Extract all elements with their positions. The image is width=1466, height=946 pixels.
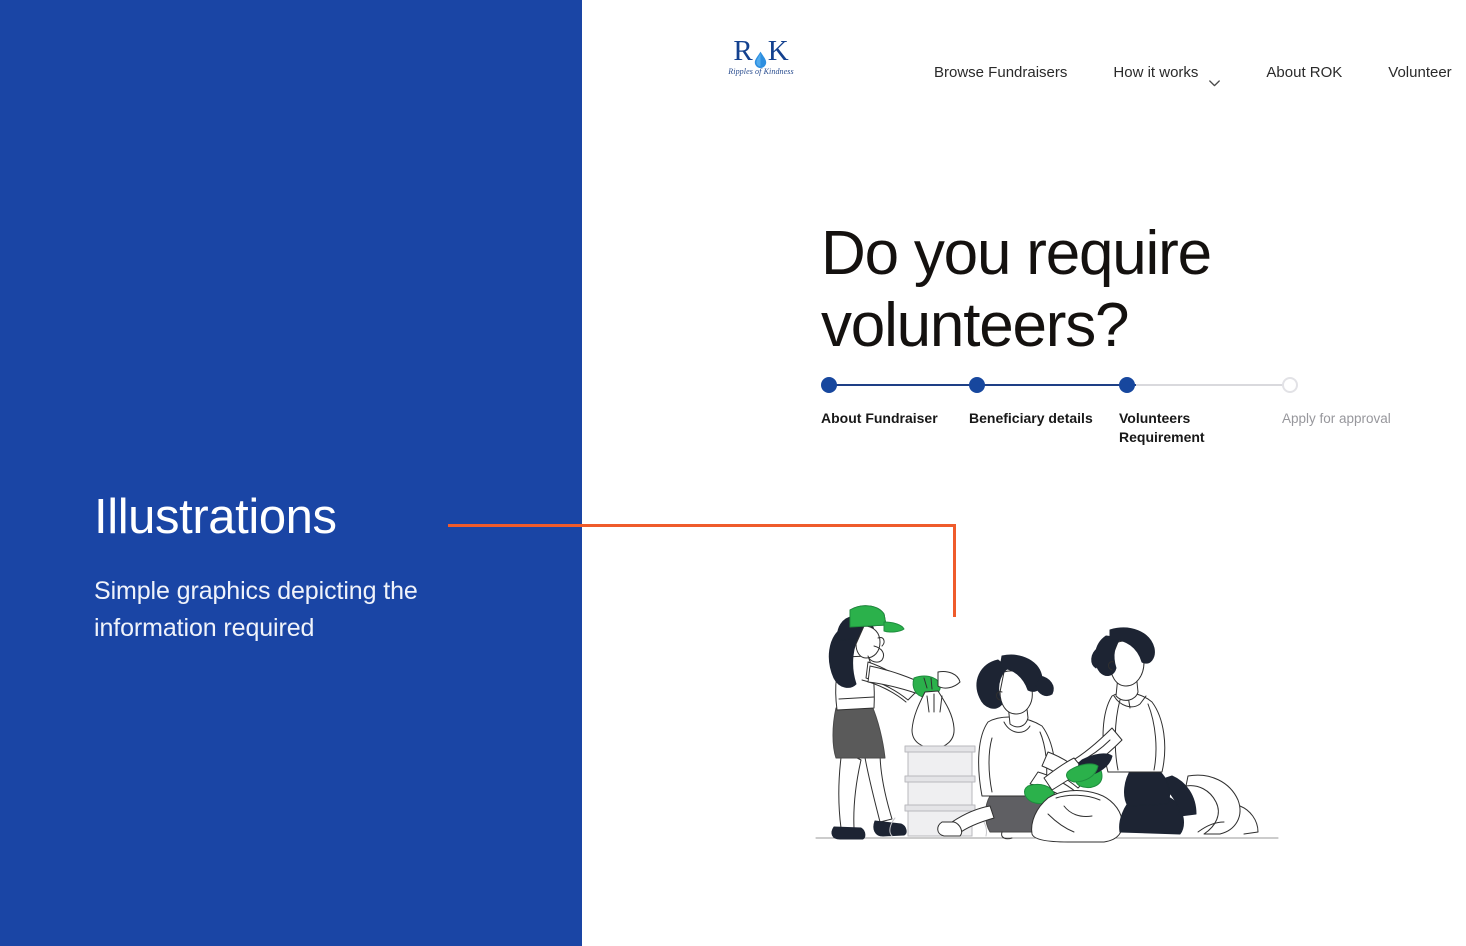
nav-item-how-it-works[interactable]: How it works [1113,61,1220,85]
step-dot-icon [1282,377,1298,393]
annotation-panel: Illustrations Simple graphics depicting … [0,0,582,946]
annotation-description: Simple graphics depicting the informatio… [94,573,524,647]
step-label: Volunteers Requirement [1119,409,1244,447]
nav-label: About ROK [1266,61,1342,85]
step-dot-icon [969,377,985,393]
step-label: Beneficiary details [969,409,1094,428]
main-navigation: Browse Fundraisers How it works About RO… [934,61,1452,85]
brand-wordmark: R K [713,36,809,66]
nav-label: Volunteer [1388,61,1451,85]
nav-label: How it works [1113,61,1198,85]
brand-tagline: Ripples of Kindness [713,67,809,77]
nav-item-volunteer[interactable]: Volunteer [1388,61,1451,85]
brand-letter-k: K [768,36,789,66]
brand-logo[interactable]: R K Ripples of Kindness [713,36,809,80]
step-dot-icon [821,377,837,393]
progress-stepper: About Fundraiser Beneficiary details Vol… [821,375,1301,455]
water-drop-icon [754,44,767,61]
brand-letter-r: R [733,36,752,66]
page-title: Do you require volunteers? [821,218,1341,362]
chevron-down-icon [1209,71,1220,78]
nav-item-about-rok[interactable]: About ROK [1266,61,1342,85]
step-dot-icon [1119,377,1135,393]
nav-item-browse-fundraisers[interactable]: Browse Fundraisers [934,61,1067,85]
step-label: About Fundraiser [821,409,946,428]
site-header: R K Ripples of Kindness Browse Fundraise… [582,0,1466,130]
annotation-title: Illustrations [94,489,337,545]
leader-line-horizontal [448,524,956,527]
volunteers-collecting-trash-illustration [812,600,1282,855]
nav-label: Browse Fundraisers [934,61,1067,85]
page-root: Illustrations Simple graphics depicting … [0,0,1466,946]
step-label: Apply for approval [1282,409,1407,428]
